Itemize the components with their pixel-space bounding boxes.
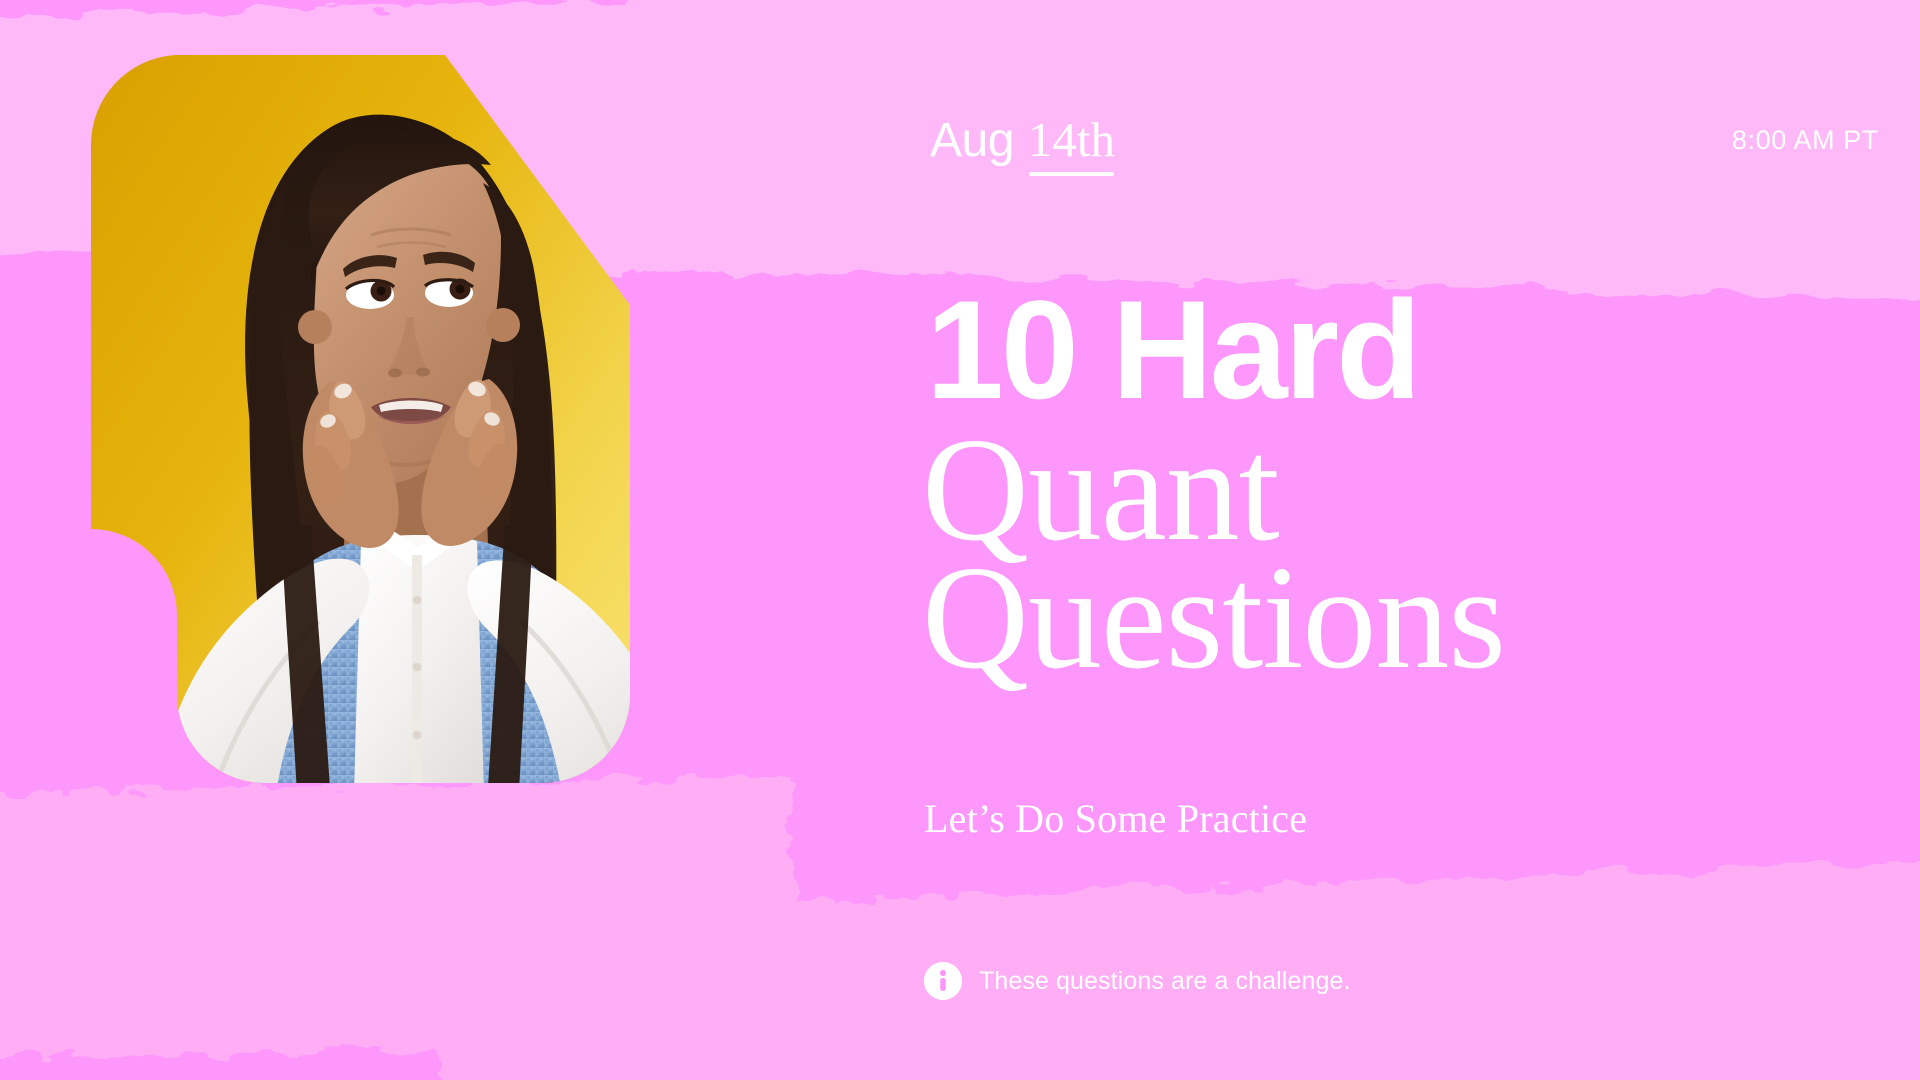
date-day-wrapper: 14th	[1028, 115, 1115, 176]
subtitle: Let’s Do Some Practice	[924, 795, 1307, 842]
info-icon	[924, 962, 962, 1000]
headline-line-1: 10 Hard	[864, 280, 1920, 420]
promo-banner: Aug 14th 8:00 AM PT 10 Hard Quant Questi…	[0, 0, 1920, 1080]
event-date: Aug 14th	[930, 115, 1115, 176]
date-underline	[1029, 172, 1114, 176]
footer-note: These questions are a challenge.	[924, 962, 1351, 1000]
portrait-photo-card	[85, 55, 765, 830]
date-day: 14th	[1028, 115, 1115, 164]
content-column: Aug 14th 8:00 AM PT 10 Hard Quant Questi…	[862, 0, 1920, 1080]
footer-text: These questions are a challenge.	[979, 967, 1351, 996]
event-time: 8:00 AM PT	[1732, 125, 1879, 156]
headline-line-3: Questions	[864, 542, 1920, 694]
date-month: Aug	[930, 117, 1014, 165]
headline-block: 10 Hard Quant Questions	[864, 280, 1920, 695]
header-row: Aug 14th 8:00 AM PT	[862, 115, 1920, 185]
